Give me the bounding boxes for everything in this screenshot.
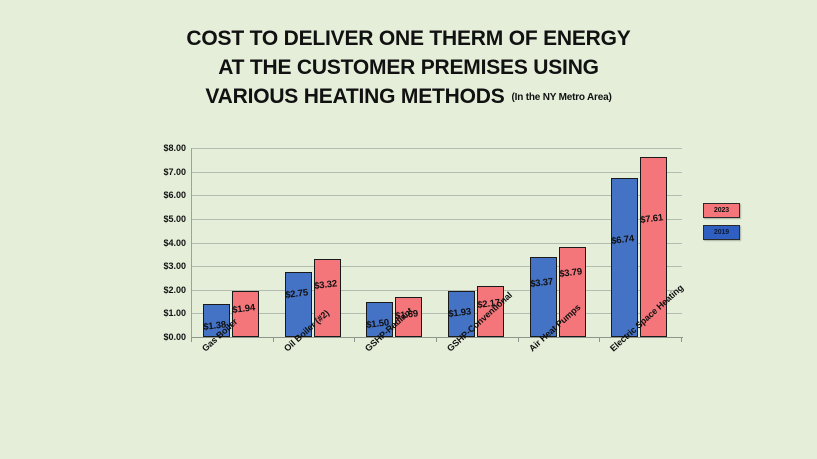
y-axis-tick-label: $8.00: [163, 143, 186, 153]
legend-item-label: 2023: [714, 207, 729, 214]
gridline: [192, 266, 682, 267]
x-axis-tick: [354, 337, 355, 342]
gridline: [192, 313, 682, 314]
y-axis-tick-label: $7.00: [163, 167, 186, 177]
gridline: [192, 148, 682, 149]
x-axis-tick: [191, 337, 192, 342]
chart-legend: 20232019: [703, 203, 743, 247]
y-axis-tick-label: $1.00: [163, 308, 186, 318]
bar-value-label: $3.32: [313, 278, 337, 292]
legend-item-label: 2019: [714, 229, 729, 236]
gridline: [192, 195, 682, 196]
y-axis-tick-label: $4.00: [163, 238, 186, 248]
gridline: [192, 172, 682, 173]
gridline: [192, 243, 682, 244]
bar-2019-electric-space-heating[interactable]: [611, 178, 638, 337]
y-axis-tick-label: $2.00: [163, 285, 186, 295]
chart-slide: COST TO DELIVER ONE THERM OF ENERGY AT T…: [0, 0, 817, 459]
chart-plot-wrapper: $8.00$7.00$6.00$5.00$4.00$3.00$2.00$1.00…: [0, 0, 817, 459]
x-axis-tick: [436, 337, 437, 342]
plot-area: [191, 148, 681, 337]
x-axis-tick: [273, 337, 274, 342]
y-axis-tick-label: $3.00: [163, 261, 186, 271]
x-axis-line: [191, 337, 683, 338]
y-axis-tick-label: $6.00: [163, 190, 186, 200]
y-axis: $8.00$7.00$6.00$5.00$4.00$3.00$2.00$1.00…: [140, 141, 186, 341]
x-axis-tick: [599, 337, 600, 342]
y-axis-tick-label: $5.00: [163, 214, 186, 224]
y-axis-tick-label: $0.00: [163, 332, 186, 342]
x-axis-tick: [681, 337, 682, 342]
gridline: [192, 290, 682, 291]
legend-item-2023[interactable]: 2023: [703, 203, 740, 218]
legend-item-2019[interactable]: 2019: [703, 225, 740, 240]
x-axis-tick: [518, 337, 519, 342]
gridline: [192, 219, 682, 220]
